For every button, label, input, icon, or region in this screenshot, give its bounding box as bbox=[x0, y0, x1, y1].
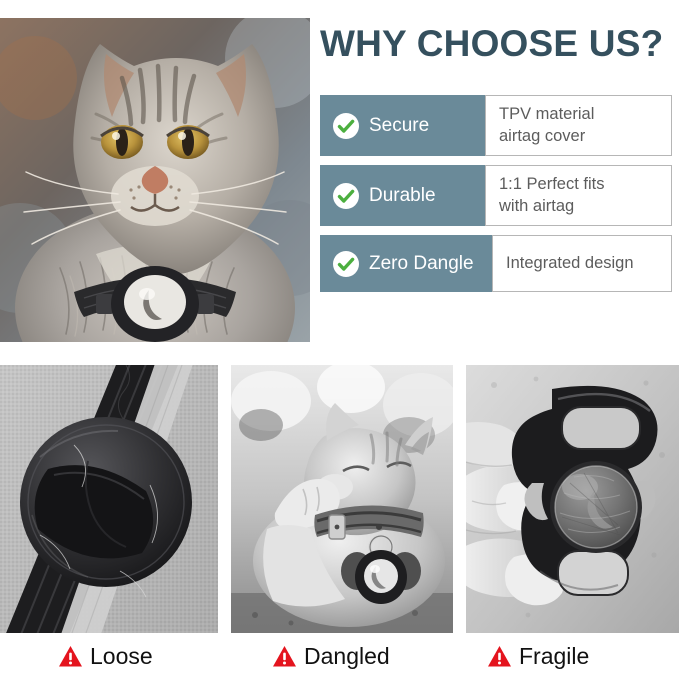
check-circle-icon bbox=[332, 112, 360, 140]
dangled-holder-illustration bbox=[231, 365, 453, 633]
caption-loose: Loose bbox=[58, 640, 153, 672]
warning-triangle-icon bbox=[487, 645, 512, 668]
check-circle-icon bbox=[332, 250, 360, 278]
feature-label: Durable bbox=[369, 185, 436, 207]
caption-label: Dangled bbox=[304, 643, 390, 670]
check-circle-icon bbox=[332, 182, 360, 210]
caption-label: Fragile bbox=[519, 643, 589, 670]
feature-label: Secure bbox=[369, 115, 429, 137]
feature-detail-line: with airtag bbox=[499, 196, 604, 217]
feature-detail-line: airtag cover bbox=[499, 126, 594, 147]
hero-cat-illustration bbox=[0, 18, 310, 342]
feature-label: Zero Dangle bbox=[369, 253, 474, 275]
feature-table: Secure TPV material airtag cover Durable… bbox=[320, 95, 672, 292]
caption-fragile: Fragile bbox=[487, 640, 589, 672]
hero-cat-photo bbox=[0, 18, 310, 342]
feature-detail-line: Integrated design bbox=[506, 253, 634, 274]
feature-detail-cell: Integrated design bbox=[492, 235, 672, 292]
comparison-captions: Loose Dangled Fragile bbox=[0, 640, 679, 676]
feature-detail-line: 1:1 Perfect fits bbox=[499, 174, 604, 195]
feature-label-cell: Secure bbox=[320, 95, 485, 156]
feature-row: Zero Dangle Integrated design bbox=[320, 235, 672, 292]
feature-detail-cell: TPV material airtag cover bbox=[485, 95, 672, 156]
comparison-photo-strip bbox=[0, 365, 679, 633]
feature-label-cell: Zero Dangle bbox=[320, 235, 492, 292]
warning-triangle-icon bbox=[272, 645, 297, 668]
feature-row: Secure TPV material airtag cover bbox=[320, 95, 672, 156]
comparison-photo-dangled bbox=[231, 365, 453, 633]
feature-row: Durable 1:1 Perfect fits with airtag bbox=[320, 165, 672, 226]
warning-triangle-icon bbox=[58, 645, 83, 668]
comparison-photo-fragile bbox=[466, 365, 679, 633]
feature-label-cell: Durable bbox=[320, 165, 485, 226]
comparison-photo-loose bbox=[0, 365, 218, 633]
feature-detail-cell: 1:1 Perfect fits with airtag bbox=[485, 165, 672, 226]
caption-dangled: Dangled bbox=[272, 640, 390, 672]
caption-label: Loose bbox=[90, 643, 153, 670]
fragile-holder-illustration bbox=[466, 365, 679, 633]
page-title: WHY CHOOSE US? bbox=[320, 25, 679, 64]
loose-holder-illustration bbox=[0, 365, 218, 633]
product-infographic: WHY CHOOSE US? Secure TPV material airta… bbox=[0, 0, 679, 676]
feature-detail-line: TPV material bbox=[499, 104, 594, 125]
